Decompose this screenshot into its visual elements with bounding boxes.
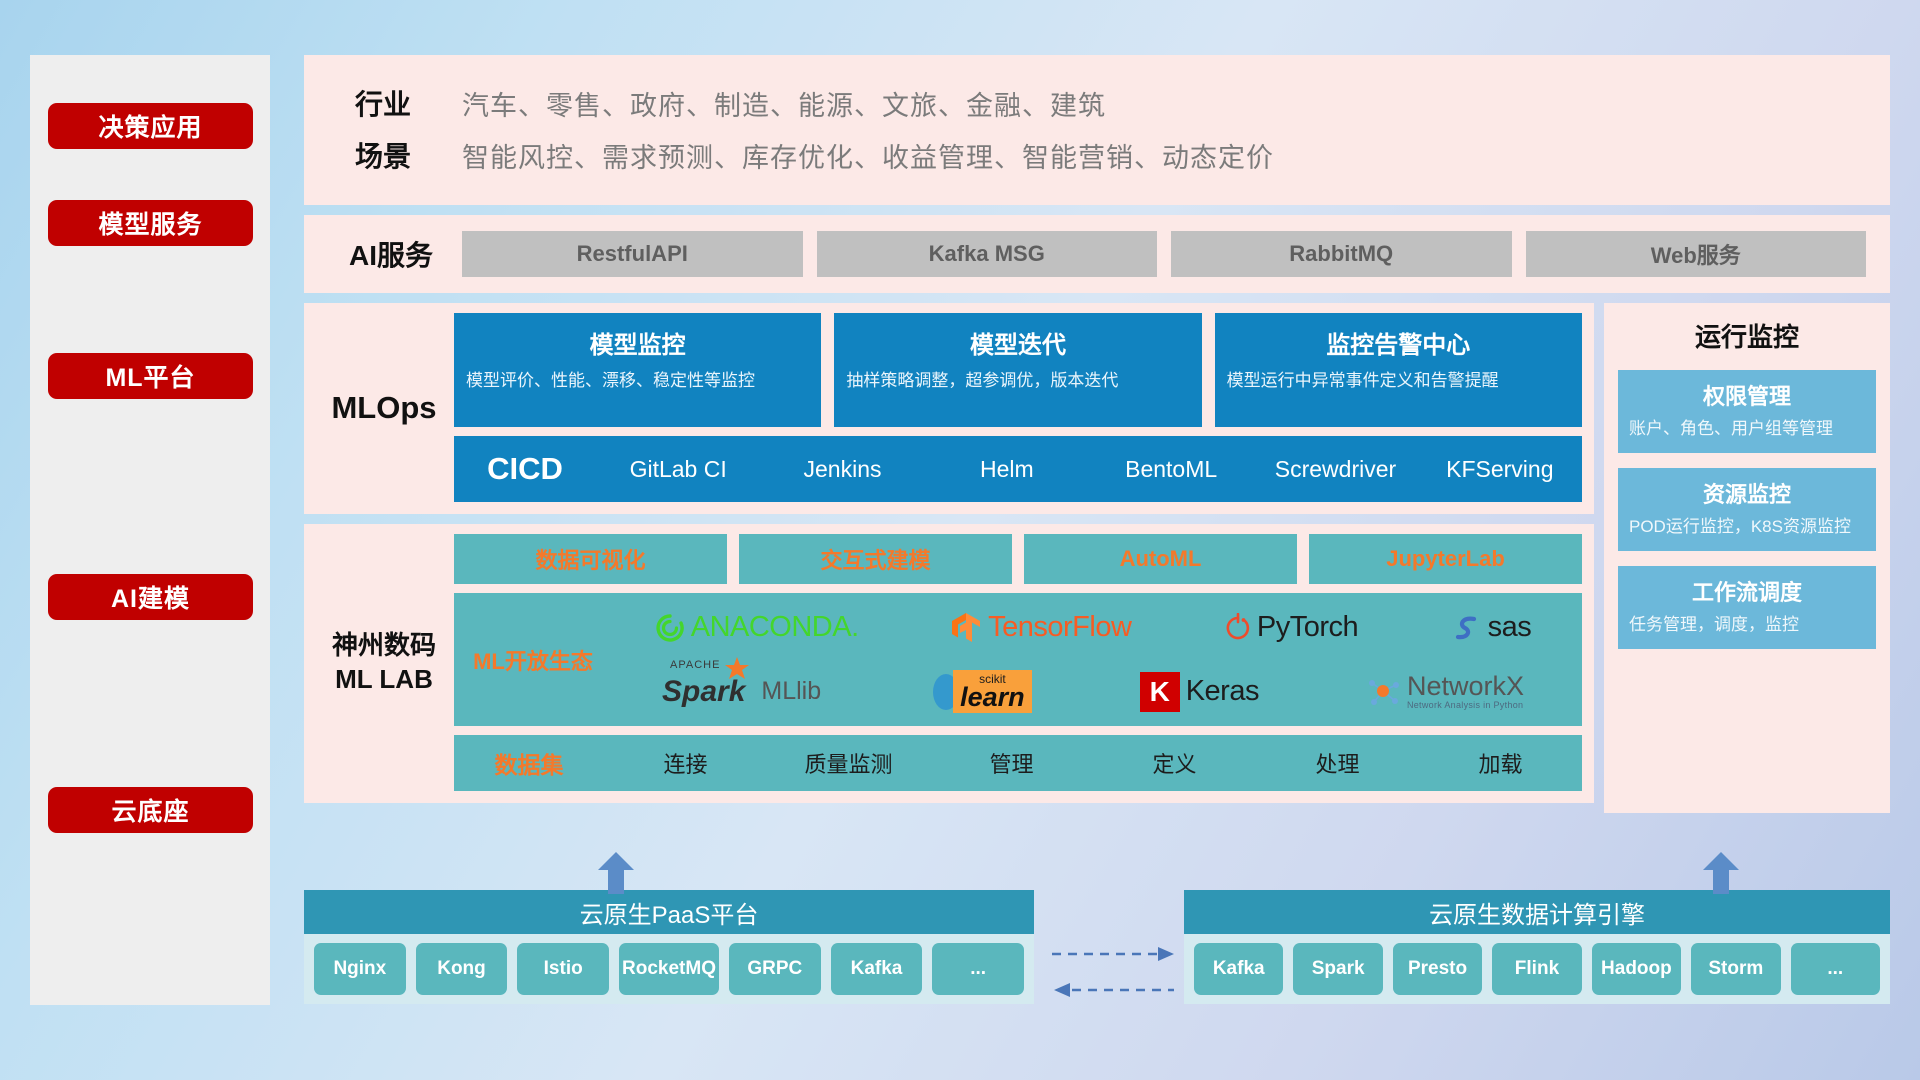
dataset-item[interactable]: 质量监测 <box>767 747 930 779</box>
ml-lab-label-line1: 神州数码 <box>332 629 436 663</box>
learn-text: learn <box>960 686 1025 709</box>
cicd-item[interactable]: Jenkins <box>760 457 924 481</box>
main-column: 行业 汽车、零售、政府、制造、能源、文旅、金融、建筑 场景 智能风控、需求预测、… <box>304 55 1890 813</box>
anaconda-wordmark: ANACONDA. <box>691 611 859 644</box>
industry-scenario-band: 行业 汽车、零售、政府、制造、能源、文旅、金融、建筑 场景 智能风控、需求预测、… <box>304 55 1890 205</box>
ml-ecosystem-logo-grid: ANACONDA. <box>608 597 1578 723</box>
middle-wrapper: MLOps 模型监控 模型评价、性能、漂移、稳定性等监控 模型迭代 抽样策略调整… <box>304 303 1890 813</box>
scikit-learn-logo: scikit learn <box>929 670 1032 713</box>
monitor-card-desc: 账户、角色、用户组等管理 <box>1629 418 1865 441</box>
cloud-chip[interactable]: Kafka <box>831 943 923 995</box>
mlops-card[interactable]: 模型迭代 抽样策略调整，超参调优，版本迭代 <box>834 313 1201 427</box>
ml-lab-tool[interactable]: AutoML <box>1024 534 1297 584</box>
cloud-chip[interactable]: Hadoop <box>1592 943 1681 995</box>
mllib-wordmark: MLlib <box>761 677 821 706</box>
cloud-chip[interactable]: ... <box>1791 943 1880 995</box>
anaconda-logo: ANACONDA. <box>655 611 859 644</box>
mlops-card-desc: 抽样策略调整，超参调优，版本迭代 <box>846 370 1189 393</box>
networkx-logo: NetworkX Network Analysis in Python <box>1367 673 1524 710</box>
networkx-subtitle: Network Analysis in Python <box>1407 700 1524 710</box>
cloud-chip[interactable]: Kafka <box>1194 943 1283 995</box>
spark-star-icon <box>724 656 750 682</box>
monitor-card-desc: 任务管理，调度，监控 <box>1629 614 1865 637</box>
cloud-chip[interactable]: ... <box>932 943 1024 995</box>
industry-value: 汽车、零售、政府、制造、能源、文旅、金融、建筑 <box>462 84 1106 123</box>
ml-ecosystem-label: ML开放生态 <box>458 644 608 676</box>
industry-row: 行业 汽车、零售、政府、制造、能源、文旅、金融、建筑 <box>304 77 1890 129</box>
cloud-paas-group: 云原生PaaS平台 Nginx Kong Istio RocketMQ GRPC… <box>304 890 1034 1004</box>
dataset-label: 数据集 <box>454 746 604 780</box>
keras-wordmark: Keras <box>1186 675 1259 708</box>
networkx-icon <box>1367 676 1401 708</box>
runtime-monitor-band: 运行监控 权限管理 账户、角色、用户组等管理 资源监控 POD运行监控，K8S资… <box>1604 303 1890 813</box>
keras-letter: K <box>1150 676 1170 708</box>
scenario-label: 场景 <box>304 135 462 175</box>
mlops-band: MLOps 模型监控 模型评价、性能、漂移、稳定性等监控 模型迭代 抽样策略调整… <box>304 303 1594 514</box>
dataset-item[interactable]: 定义 <box>1093 747 1256 779</box>
dataset-row: 数据集 连接 质量监测 管理 定义 处理 加载 <box>454 735 1582 791</box>
cloud-engine-title: 云原生数据计算引擎 <box>1184 890 1890 934</box>
mlops-card-title: 模型监控 <box>466 325 809 360</box>
pytorch-wordmark: PyTorch <box>1257 611 1358 644</box>
platform-stack: MLOps 模型监控 模型评价、性能、漂移、稳定性等监控 模型迭代 抽样策略调整… <box>304 303 1594 813</box>
ml-ecosystem-row: ML开放生态 <box>454 593 1582 726</box>
scikit-learn-badge: scikit learn <box>953 670 1032 713</box>
cloud-chip[interactable]: RocketMQ <box>619 943 719 995</box>
networkx-wordmark: NetworkX <box>1407 673 1524 700</box>
cloud-engine-chip-list: Kafka Spark Presto Flink Hadoop Storm ..… <box>1184 934 1890 1004</box>
mlops-card-desc: 模型运行中异常事件定义和告警提醒 <box>1227 370 1570 393</box>
monitor-card[interactable]: 工作流调度 任务管理，调度，监控 <box>1618 566 1876 649</box>
sas-icon <box>1452 613 1482 643</box>
runtime-monitor-title: 运行监控 <box>1618 317 1876 354</box>
cloud-chip[interactable]: Kong <box>416 943 508 995</box>
cicd-item-list: GitLab CI Jenkins Helm BentoML Screwdriv… <box>596 457 1582 481</box>
cloud-chip[interactable]: Spark <box>1293 943 1382 995</box>
ai-service-chip[interactable]: RabbitMQ <box>1171 231 1512 277</box>
cloud-paas-title: 云原生PaaS平台 <box>304 890 1034 934</box>
cicd-item[interactable]: Helm <box>925 457 1089 481</box>
spark-mllib-logo: APACHE Spark MLlib <box>662 675 821 709</box>
industry-label: 行业 <box>304 83 462 123</box>
tensorflow-wordmark: TensorFlow <box>988 611 1131 644</box>
ml-lab-label: 神州数码 ML LAB <box>314 534 454 791</box>
mlops-card-title: 模型迭代 <box>846 325 1189 360</box>
ai-service-chip[interactable]: Kafka MSG <box>817 231 1158 277</box>
spark-apache-text: APACHE <box>670 659 720 671</box>
dataset-item[interactable]: 管理 <box>930 747 1093 779</box>
ai-service-chip[interactable]: RestfulAPI <box>462 231 803 277</box>
sas-logo: sas <box>1452 611 1532 644</box>
runtime-monitor-column: 运行监控 权限管理 账户、角色、用户组等管理 资源监控 POD运行监控，K8S资… <box>1604 303 1890 813</box>
rail-item-decision-app[interactable]: 决策应用 <box>48 103 253 149</box>
monitor-card-title: 资源监控 <box>1629 477 1865 509</box>
cicd-title: CICD <box>454 451 596 487</box>
cloud-base-zone: 云原生PaaS平台 Nginx Kong Istio RocketMQ GRPC… <box>304 862 1890 1022</box>
mlops-card-list: 模型监控 模型评价、性能、漂移、稳定性等监控 模型迭代 抽样策略调整，超参调优，… <box>454 313 1582 427</box>
mlops-card[interactable]: 模型监控 模型评价、性能、漂移、稳定性等监控 <box>454 313 821 427</box>
dataset-item-list: 连接 质量监测 管理 定义 处理 加载 <box>604 747 1582 779</box>
anaconda-icon <box>655 613 685 643</box>
cloud-chip[interactable]: Presto <box>1393 943 1482 995</box>
ml-lab-tool[interactable]: 交互式建模 <box>739 534 1012 584</box>
cicd-bar: CICD GitLab CI Jenkins Helm BentoML Scre… <box>454 436 1582 502</box>
cloud-chip[interactable]: Flink <box>1492 943 1581 995</box>
left-rail: 决策应用 模型服务 ML平台 AI建模 云底座 <box>30 55 270 1005</box>
cicd-item[interactable]: KFServing <box>1418 457 1582 481</box>
cloud-chip[interactable]: Istio <box>517 943 609 995</box>
ml-lab-band: 神州数码 ML LAB 数据可视化 交互式建模 AutoML JupyterLa… <box>304 524 1594 803</box>
rail-item-ml-platform[interactable]: ML平台 <box>48 353 253 399</box>
mlops-card[interactable]: 监控告警中心 模型运行中异常事件定义和告警提醒 <box>1215 313 1582 427</box>
sas-wordmark: sas <box>1488 611 1532 644</box>
tensorflow-logo: TensorFlow <box>952 611 1131 644</box>
ml-lab-label-line2: ML LAB <box>332 663 436 697</box>
cloud-chip[interactable]: Nginx <box>314 943 406 995</box>
rail-item-model-service[interactable]: 模型服务 <box>48 200 253 246</box>
pytorch-logo: PyTorch <box>1225 611 1358 644</box>
diagram-root: 决策应用 模型服务 ML平台 AI建模 云底座 行业 汽车、零售、政府、制造、能… <box>0 0 1920 1080</box>
bidirectional-link-arrows <box>1046 936 1178 1006</box>
pytorch-icon <box>1225 613 1251 643</box>
monitor-card[interactable]: 资源监控 POD运行监控，K8S资源监控 <box>1618 468 1876 551</box>
ai-service-chip-list: RestfulAPI Kafka MSG RabbitMQ Web服务 <box>462 231 1874 277</box>
ai-service-band: AI服务 RestfulAPI Kafka MSG RabbitMQ Web服务 <box>304 215 1890 293</box>
cicd-item[interactable]: Screwdriver <box>1253 457 1417 481</box>
rail-item-cloud-base[interactable]: 云底座 <box>48 787 253 833</box>
scenario-row: 场景 智能风控、需求预测、库存优化、收益管理、智能营销、动态定价 <box>304 129 1890 181</box>
ml-lab-tool[interactable]: JupyterLab <box>1309 534 1582 584</box>
logo-line-top: ANACONDA. <box>608 597 1578 659</box>
cloud-engine-group: 云原生数据计算引擎 Kafka Spark Presto Flink Hadoo… <box>1184 890 1890 1004</box>
dataset-item[interactable]: 连接 <box>604 747 767 779</box>
ml-lab-tool[interactable]: 数据可视化 <box>454 534 727 584</box>
cloud-chip[interactable]: Storm <box>1691 943 1780 995</box>
scenario-value: 智能风控、需求预测、库存优化、收益管理、智能营销、动态定价 <box>462 136 1274 175</box>
dataset-item[interactable]: 加载 <box>1419 747 1582 779</box>
keras-icon: K <box>1140 672 1180 712</box>
monitor-card-desc: POD运行监控，K8S资源监控 <box>1629 516 1865 539</box>
cicd-item[interactable]: GitLab CI <box>596 457 760 481</box>
cloud-paas-chip-list: Nginx Kong Istio RocketMQ GRPC Kafka ... <box>304 934 1034 1004</box>
rail-item-ai-modeling[interactable]: AI建模 <box>48 574 253 620</box>
mlops-card-title: 监控告警中心 <box>1227 325 1570 360</box>
up-arrow-icon <box>1699 850 1743 894</box>
keras-logo: K Keras <box>1140 672 1259 712</box>
monitor-card-title: 权限管理 <box>1629 379 1865 411</box>
monitor-card-title: 工作流调度 <box>1629 575 1865 607</box>
mlops-card-desc: 模型评价、性能、漂移、稳定性等监控 <box>466 370 809 393</box>
dataset-item[interactable]: 处理 <box>1256 747 1419 779</box>
monitor-card[interactable]: 权限管理 账户、角色、用户组等管理 <box>1618 370 1876 453</box>
cloud-chip[interactable]: GRPC <box>729 943 821 995</box>
ml-lab-tool-list: 数据可视化 交互式建模 AutoML JupyterLab <box>454 534 1582 584</box>
ai-service-chip[interactable]: Web服务 <box>1526 231 1867 277</box>
logo-line-bottom: APACHE Spark MLlib <box>608 661 1578 723</box>
ai-service-label: AI服务 <box>320 234 462 274</box>
mlops-label: MLOps <box>314 313 454 502</box>
tensorflow-icon <box>952 612 982 644</box>
up-arrow-icon <box>594 850 638 894</box>
cicd-item[interactable]: BentoML <box>1089 457 1253 481</box>
